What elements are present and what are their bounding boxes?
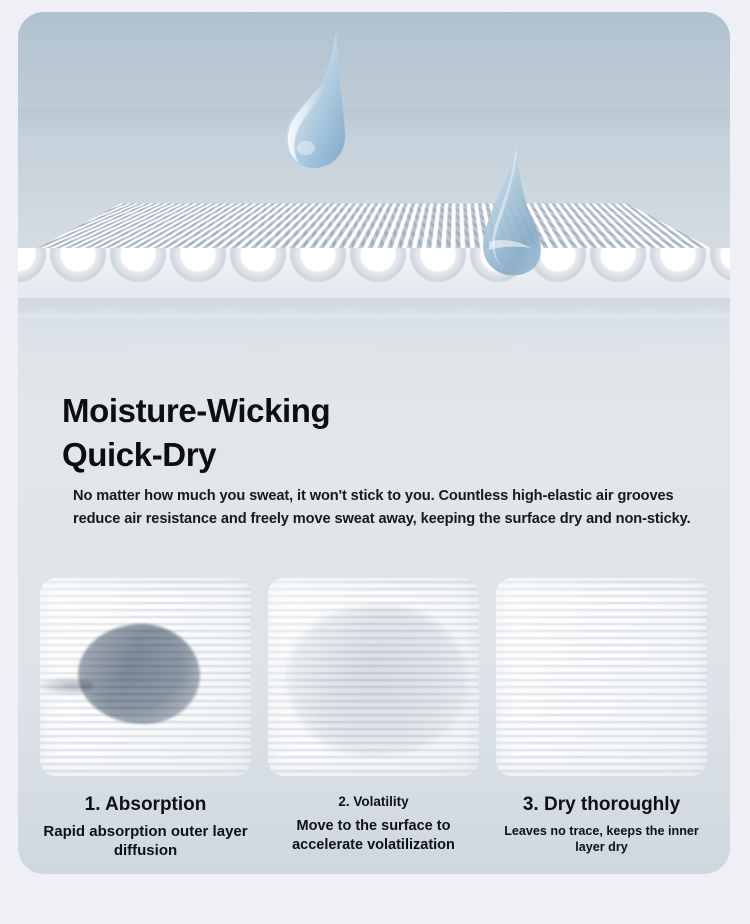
mesh-front-shadow	[18, 298, 730, 362]
fabric-swatch-volatility	[268, 578, 479, 776]
step-subtitle: Leaves no trace, keeps the inner layer d…	[496, 823, 707, 855]
hero-image	[18, 12, 730, 362]
step-caption-row: 1. Absorption Rapid absorption outer lay…	[40, 794, 708, 860]
water-stain-faint	[286, 606, 468, 756]
step-caption-dry: 3. Dry thoroughly Leaves no trace, keeps…	[496, 794, 707, 860]
infographic-card: Moisture-Wicking Quick-Dry No matter how…	[18, 12, 730, 874]
headline-line-1: Moisture-Wicking	[62, 392, 330, 429]
water-droplet-resting-icon	[473, 140, 557, 280]
fabric-swatch-row	[40, 578, 708, 776]
step-caption-absorption: 1. Absorption Rapid absorption outer lay…	[40, 794, 251, 860]
headline-line-2: Quick-Dry	[62, 436, 216, 473]
water-stain-dark	[78, 624, 200, 724]
step-title: 2. Volatility	[268, 794, 479, 810]
fabric-swatch-absorption	[40, 578, 251, 776]
step-title: 1. Absorption	[40, 794, 251, 817]
step-title: 3. Dry thoroughly	[496, 794, 707, 817]
step-subtitle: Move to the surface to accelerate volati…	[268, 817, 479, 854]
page-title: Moisture-Wicking Quick-Dry	[62, 389, 330, 476]
mesh-horizon-fade	[18, 108, 730, 178]
step-caption-volatility: 2. Volatility Move to the surface to acc…	[268, 794, 479, 860]
fabric-swatch-dry	[496, 578, 707, 776]
step-subtitle: Rapid absorption outer layer diffusion	[40, 822, 251, 860]
water-droplet-falling-icon	[276, 30, 350, 170]
body-description: No matter how much you sweat, it won't s…	[73, 485, 723, 532]
water-stain-tail	[40, 678, 94, 694]
